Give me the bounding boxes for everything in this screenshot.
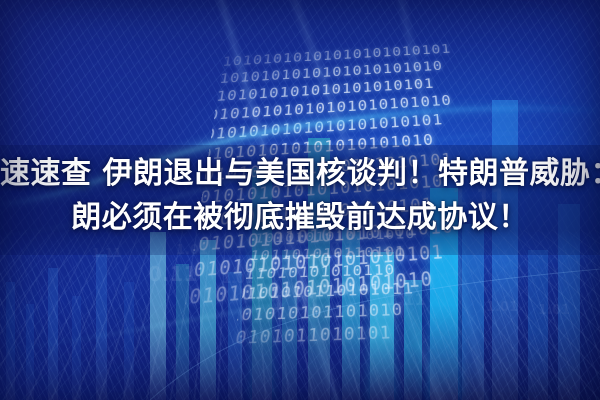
- headline-text: 速速查 伊朗退出与美国核谈判！特朗普威胁：伊 朗必须在被彻底摧毁前达成协议！: [0, 152, 600, 240]
- headline-line-1: 速速查 伊朗退出与美国核谈判！特朗普威胁：伊: [0, 152, 600, 196]
- perspective-grid-floor: [0, 230, 600, 400]
- headline-line-2: 朗必须在被彻底摧毁前达成协议！: [0, 196, 600, 240]
- news-banner-image: 1010101010101010101010101010101010101010…: [0, 0, 600, 400]
